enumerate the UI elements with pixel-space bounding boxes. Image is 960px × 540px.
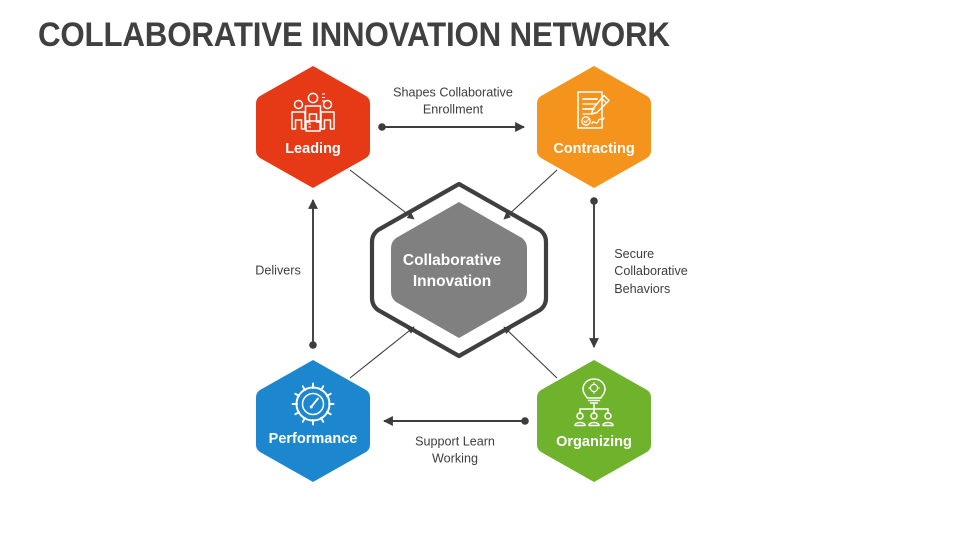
connector-performance-to-center bbox=[350, 327, 414, 378]
connector-label-top: Shapes Collaborative Enrollment bbox=[393, 85, 513, 120]
connector-label-left: Delivers bbox=[255, 262, 301, 279]
node-contracting[interactable] bbox=[537, 66, 651, 188]
node-leading[interactable] bbox=[256, 66, 370, 188]
connector-organizing-to-center bbox=[504, 327, 557, 378]
node-organizing[interactable] bbox=[537, 360, 651, 482]
diagram-canvas: Leading Contracting Performance Organizi… bbox=[0, 0, 960, 540]
connector-contracting-to-center bbox=[504, 170, 557, 219]
center-hexagon[interactable] bbox=[391, 202, 527, 338]
connector-leading-to-center bbox=[350, 170, 414, 219]
connector-label-right: Secure Collaborative Behaviors bbox=[614, 246, 688, 298]
node-performance[interactable] bbox=[256, 360, 370, 482]
connector-label-bottom: Support Learn Working bbox=[415, 434, 495, 469]
